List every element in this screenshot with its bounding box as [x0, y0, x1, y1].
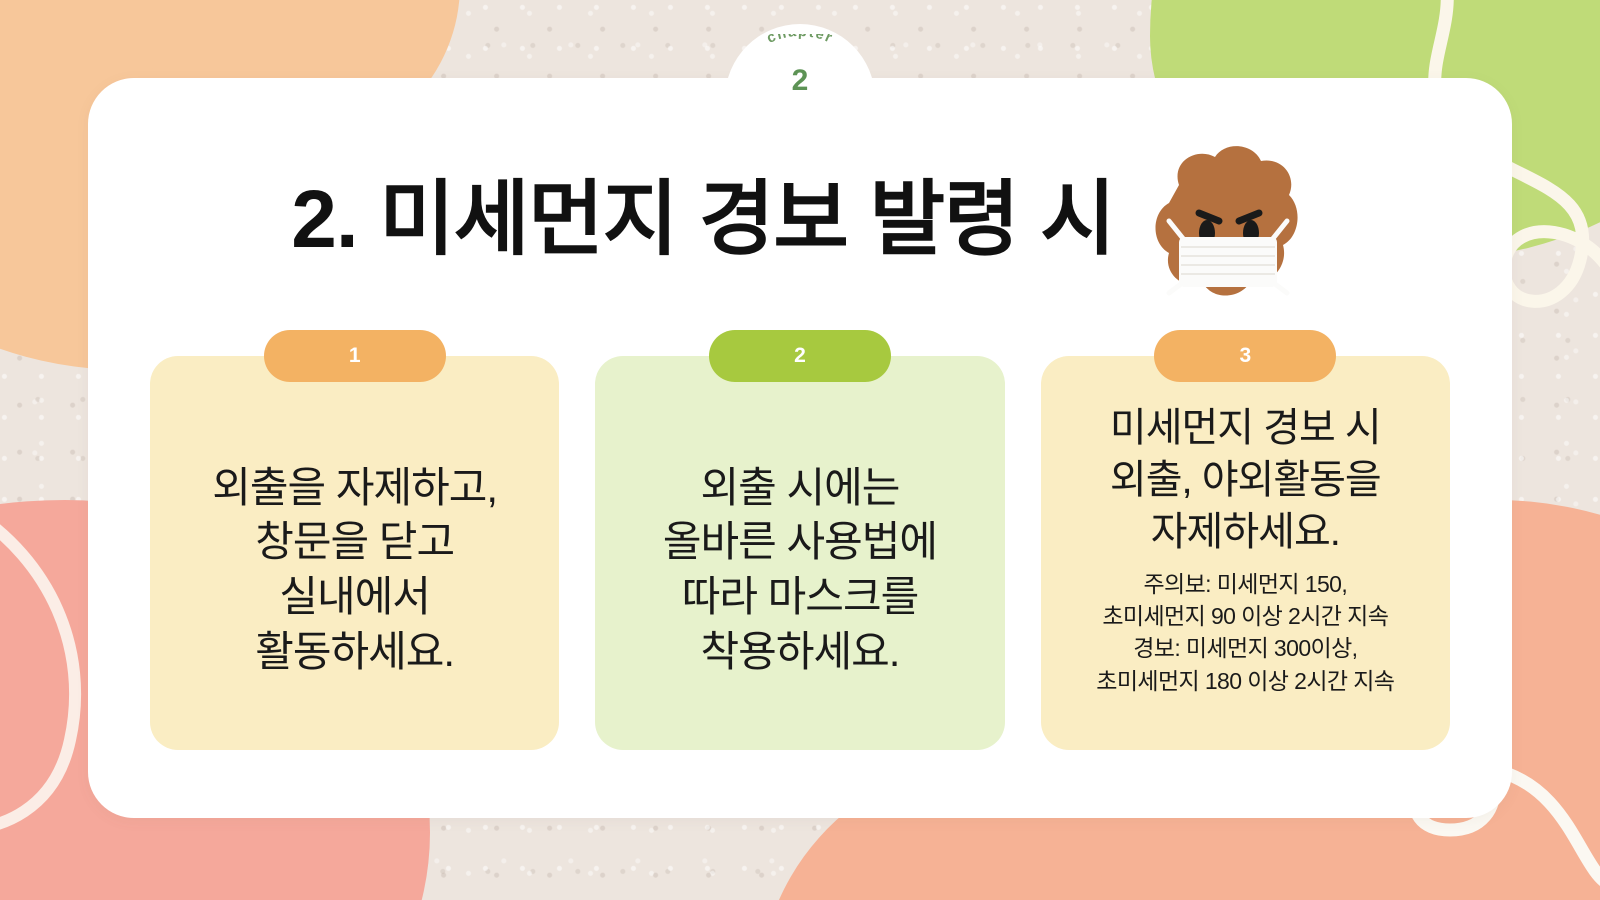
chapter-number: 2	[725, 64, 875, 98]
card-2-text: 외출 시에는 올바른 사용법에 따라 마스크를 착용하세요.	[663, 461, 937, 679]
card-3-text: 미세먼지 경보 시 외출, 야외활동을 자제하세요.	[1110, 402, 1381, 558]
info-card-3[interactable]: 3 미세먼지 경보 시 외출, 야외활동을 자제하세요. 주의보: 미세먼지 1…	[1041, 330, 1450, 750]
card-1-text: 외출을 자제하고, 창문을 닫고 실내에서 활동하세요.	[212, 461, 497, 679]
cards-row: 1 외출을 자제하고, 창문을 닫고 실내에서 활동하세요. 2 외출 시에는 …	[150, 330, 1450, 750]
chapter-badge-bump: chapter 2	[725, 24, 875, 132]
title-row: 2. 미세먼지 경보 발령 시	[88, 130, 1512, 310]
card-2-number-badge: 2	[709, 330, 891, 382]
chapter-label: chapter	[765, 34, 836, 47]
dust-cloud-mascot-icon	[1141, 133, 1309, 308]
card-3-number-badge: 3	[1154, 330, 1336, 382]
card-3-note: 주의보: 미세먼지 150, 초미세먼지 90 이상 2시간 지속 경보: 미세…	[1096, 568, 1394, 697]
card-1-body: 외출을 자제하고, 창문을 닫고 실내에서 활동하세요.	[150, 356, 559, 750]
page-title: 2. 미세먼지 경보 발령 시	[291, 177, 1114, 263]
card-3-body: 미세먼지 경보 시 외출, 야외활동을 자제하세요. 주의보: 미세먼지 150…	[1041, 356, 1450, 750]
info-card-2[interactable]: 2 외출 시에는 올바른 사용법에 따라 마스크를 착용하세요.	[595, 330, 1004, 750]
card-2-body: 외출 시에는 올바른 사용법에 따라 마스크를 착용하세요.	[595, 356, 1004, 750]
info-card-1[interactable]: 1 외출을 자제하고, 창문을 닫고 실내에서 활동하세요.	[150, 330, 559, 750]
slide-root: chapter 2 2. 미세먼지 경보 발령 시	[0, 0, 1600, 900]
card-1-number-badge: 1	[264, 330, 446, 382]
main-content-panel: chapter 2 2. 미세먼지 경보 발령 시	[88, 78, 1512, 818]
